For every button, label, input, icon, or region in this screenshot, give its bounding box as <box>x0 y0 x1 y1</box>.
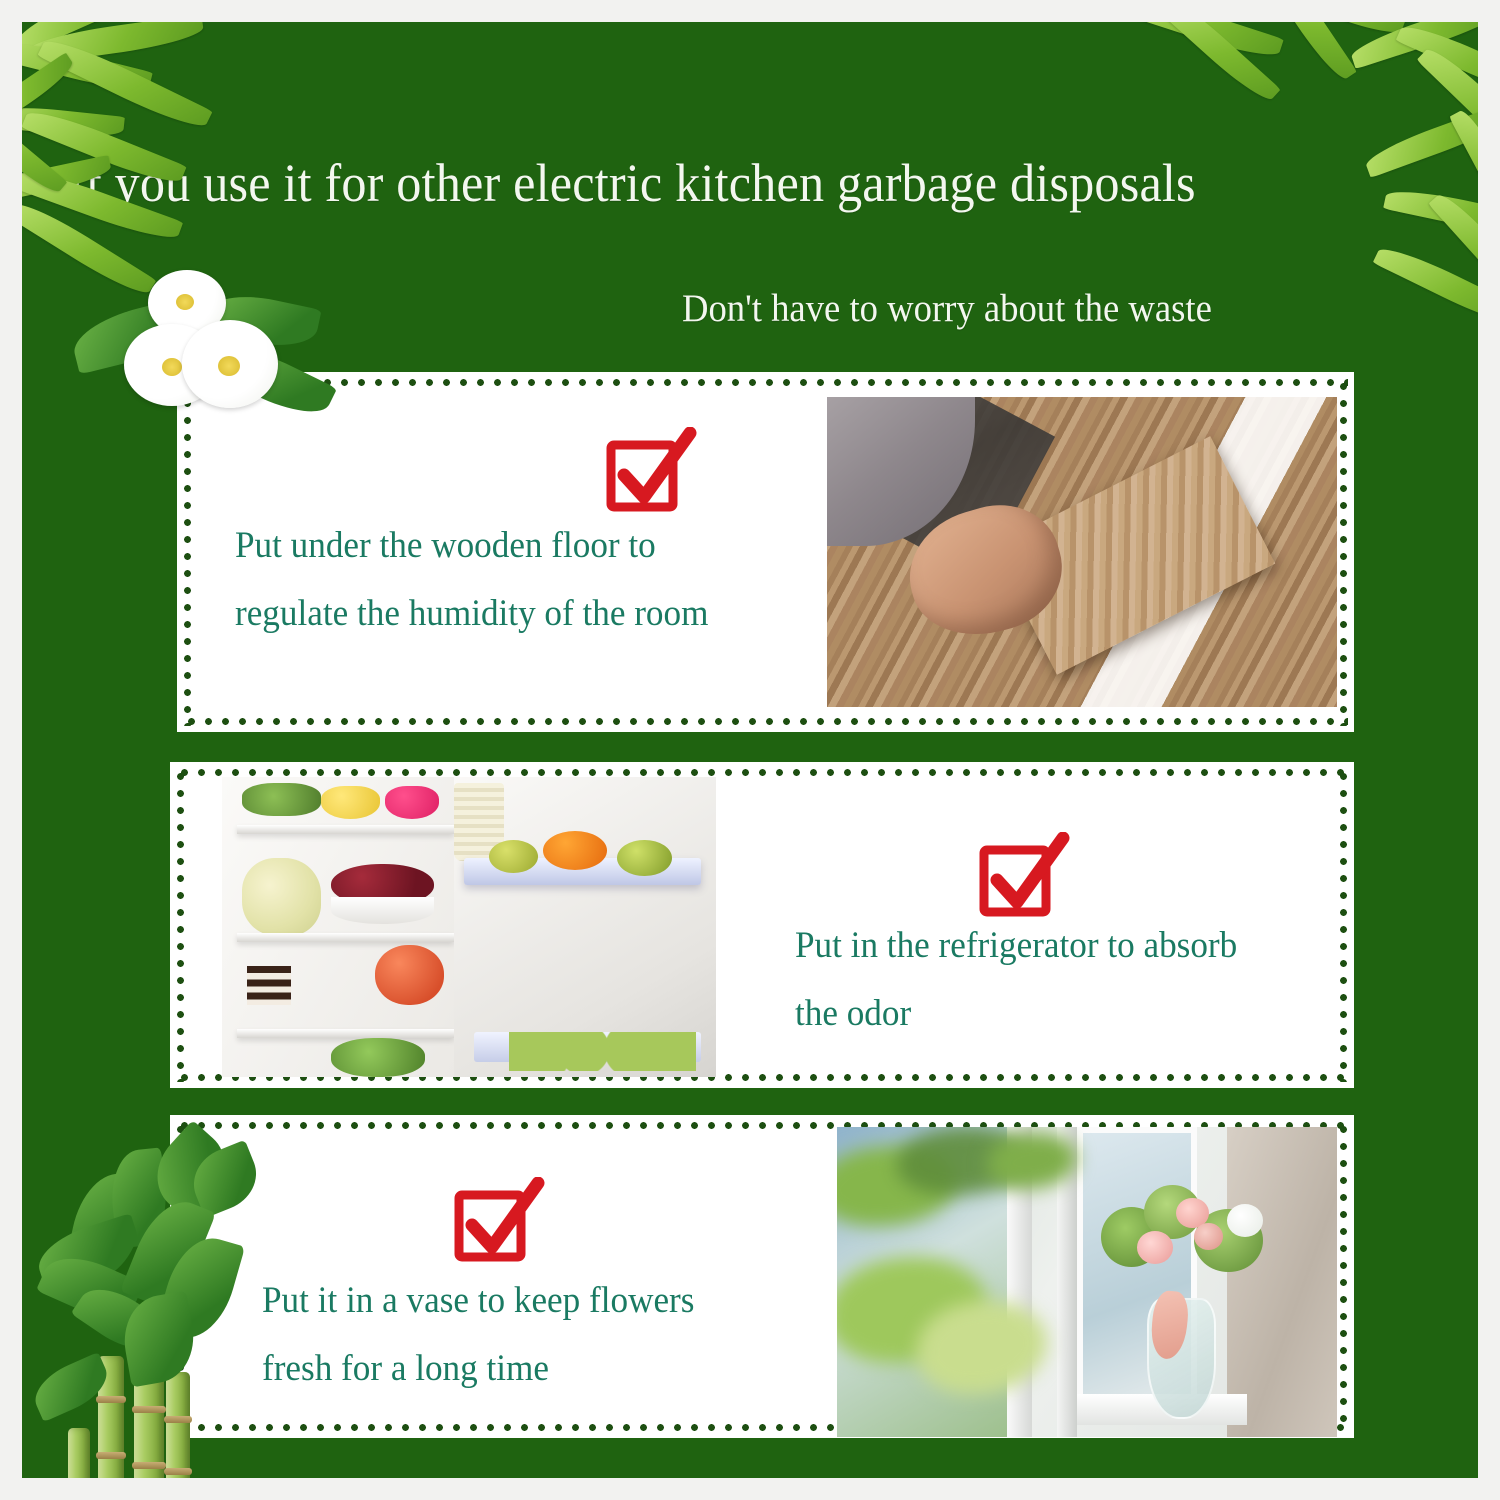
checked-checkbox-icon <box>975 832 1071 922</box>
green-panel: If you use it for other electric kitchen… <box>22 22 1478 1478</box>
flower-vase-on-windowsill-photo <box>837 1127 1337 1437</box>
checked-checkbox-icon <box>450 1177 546 1267</box>
card-text-vase: Put it in a vase to keep flowers fresh f… <box>262 1267 842 1403</box>
card-text-wooden-floor: Put under the wooden floor to regulate t… <box>235 512 815 648</box>
card-vase: Put it in a vase to keep flowers fresh f… <box>170 1115 1354 1438</box>
open-refrigerator-with-food-photo <box>222 777 716 1077</box>
page-title: If you use it for other electric kitchen… <box>68 150 1379 216</box>
product-infographic: If you use it for other electric kitchen… <box>0 0 1500 1500</box>
checked-checkbox-icon <box>602 427 698 517</box>
page-subtitle: Don't have to worry about the waste <box>682 284 1396 334</box>
card-wooden-floor: Put under the wooden floor to regulate t… <box>177 372 1354 732</box>
card-refrigerator: Put in the refrigerator to absorb the od… <box>170 762 1354 1088</box>
card-text-refrigerator: Put in the refrigerator to absorb the od… <box>795 912 1327 1048</box>
wooden-floor-installation-photo <box>827 397 1337 707</box>
